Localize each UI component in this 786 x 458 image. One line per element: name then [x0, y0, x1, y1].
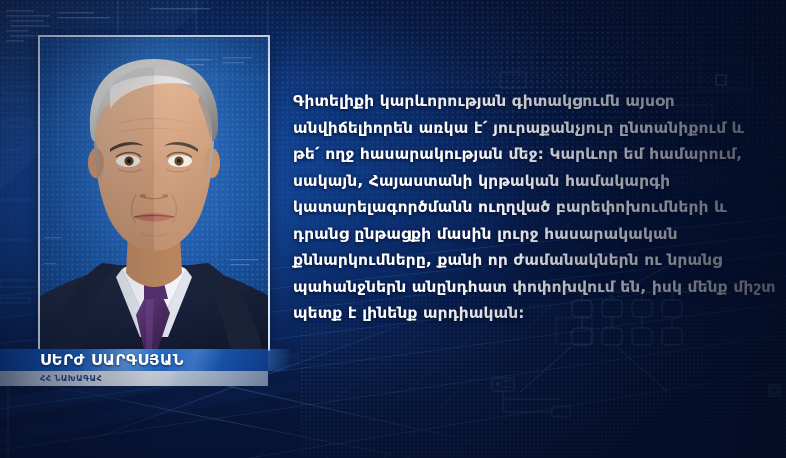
broadcast-graphic: ՍԵՐԺ ՍԱՐԳՍՅԱՆ ՀՀ ՆԱԽԱԳԱՀ Գիտելիքի կարևոր… — [0, 0, 786, 458]
speaker-title: ՀՀ ՆԱԽԱԳԱՀ — [40, 371, 102, 386]
background-vignette — [0, 0, 786, 458]
speaker-name: ՍԵՐԺ ՍԱՐԳՍՅԱՆ — [40, 350, 184, 371]
